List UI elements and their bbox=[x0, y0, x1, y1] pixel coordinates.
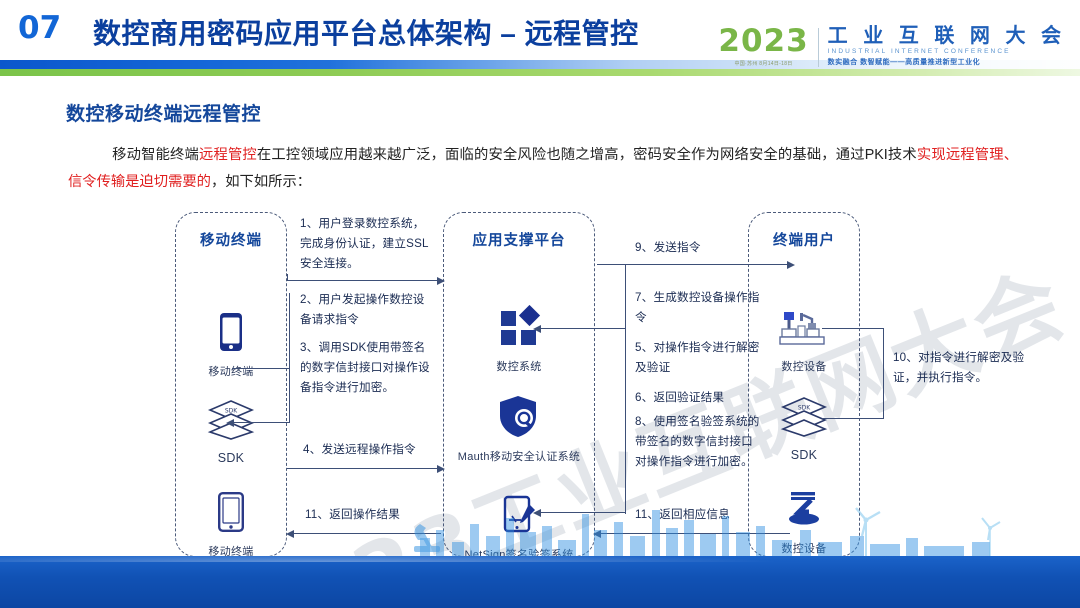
node-sdk-right: SDK SDK bbox=[748, 390, 860, 462]
node-label: 数控系统 bbox=[463, 358, 575, 374]
paragraph-part-1: 移动智能终端 bbox=[112, 147, 199, 163]
node-label: SDK bbox=[748, 448, 860, 462]
message-10: 10、对指令进行解密及验证，并执行指令。 bbox=[893, 348, 1043, 388]
arrow-11b-head bbox=[593, 530, 601, 538]
arrow-11a-line bbox=[293, 533, 441, 534]
node-mobile-terminal-2: 移动终端 bbox=[175, 485, 287, 559]
bracket-8-v bbox=[625, 264, 626, 514]
bracket-8-h bbox=[540, 512, 626, 513]
page-number: 07 bbox=[18, 10, 61, 46]
cnc-system-icon bbox=[463, 300, 575, 354]
message-7: 7、生成数控设备操作指令 bbox=[635, 288, 761, 328]
bracket-7-head bbox=[533, 325, 541, 333]
node-mauth: Mauth移动安全认证系统 bbox=[443, 390, 595, 464]
node-label: 数控设备 bbox=[748, 358, 860, 374]
lane-title-left: 移动终端 bbox=[176, 229, 286, 250]
slide-page: 07 数控商用密码应用平台总体架构 – 远程管控 2023 中国·苏州 8月14… bbox=[0, 0, 1080, 608]
signature-pad-icon bbox=[443, 488, 595, 542]
logo-year: 2023 bbox=[718, 26, 808, 57]
arrow-11a-head bbox=[286, 530, 294, 538]
message-11b: 11、返回相应信息 bbox=[635, 505, 785, 525]
message-2: 2、用户发起操作数控设备请求指令 bbox=[300, 290, 435, 330]
bracket-2-3-head bbox=[226, 419, 234, 427]
arrow-10-h1 bbox=[822, 328, 884, 329]
message-3: 3、调用SDK使用带签名的数字信封接口对操作设备指令进行加密。 bbox=[300, 338, 435, 398]
arrow-1-head bbox=[437, 277, 445, 285]
message-11a: 11、返回操作结果 bbox=[305, 505, 455, 525]
message-8: 8、使用签名验签系统的带签名的数字信封接口对操作指令进行加密。 bbox=[635, 412, 761, 472]
node-label: 移动终端 bbox=[175, 363, 287, 379]
sdk-stack-icon: SDK bbox=[748, 390, 860, 444]
cnc-machine-icon bbox=[748, 300, 860, 354]
paragraph-part-2: 在工控领域应用越来越广泛，面临的安全风险也随之增高，密码安全作为网络安全的基础，… bbox=[257, 147, 917, 163]
lane-title-center: 应用支撑平台 bbox=[444, 229, 594, 250]
message-4: 4、发送远程操作指令 bbox=[303, 440, 453, 460]
arrow-11b-line bbox=[600, 533, 790, 534]
arrow-1-tail bbox=[287, 274, 288, 281]
bracket-7-h bbox=[540, 328, 626, 329]
header-rule-green bbox=[0, 69, 1080, 76]
node-label: Mauth移动安全认证系统 bbox=[443, 448, 595, 464]
logo-conference-en: INDUSTRIAL INTERNET CONFERENCE bbox=[828, 48, 1066, 55]
logo-tagline: 数实融合 数智赋能——高质量推进新型工业化 bbox=[828, 57, 1066, 67]
arrow-9-head bbox=[787, 261, 795, 269]
arrow-10-h2 bbox=[822, 418, 884, 419]
page-title: 数控商用密码应用平台总体架构 – 远程管控 bbox=[93, 12, 639, 52]
section-title: 数控移动终端远程管控 bbox=[66, 99, 261, 126]
message-1: 1、用户登录数控系统，完成身份认证，建立SSL安全连接。 bbox=[300, 214, 435, 274]
paragraph-part-3: ，如下如所示： bbox=[211, 174, 311, 190]
bracket-2-3-h2 bbox=[232, 422, 290, 423]
message-6: 6、返回验证结果 bbox=[635, 388, 761, 408]
node-cnc-device-1: 数控设备 bbox=[748, 300, 860, 374]
bracket-2-3-h1 bbox=[232, 368, 290, 369]
arrow-1-line bbox=[287, 280, 437, 281]
section-paragraph: 移动智能终端远程管控在工控领域应用越来越广泛，面临的安全风险也随之增高，密码安全… bbox=[68, 142, 1018, 196]
paragraph-highlight-1: 远程管控 bbox=[199, 147, 257, 163]
conference-logo: 2023 中国·苏州 8月14日-18日 工 业 互 联 网 大 会 INDUS… bbox=[718, 26, 1066, 67]
shield-search-icon bbox=[443, 390, 595, 444]
tablet-icon bbox=[175, 485, 287, 539]
logo-year-subtitle: 中国·苏州 8月14日-18日 bbox=[734, 60, 792, 67]
logo-text-block: 工 业 互 联 网 大 会 INDUSTRIAL INTERNET CONFER… bbox=[828, 26, 1066, 67]
arrow-4-head bbox=[437, 465, 445, 473]
node-label: SDK bbox=[175, 451, 287, 465]
logo-divider bbox=[818, 28, 819, 67]
smartphone-icon bbox=[175, 305, 287, 359]
message-9: 9、发送指令 bbox=[635, 238, 785, 258]
bottom-wave-decoration bbox=[0, 556, 1080, 608]
slide-header: 07 数控商用密码应用平台总体架构 – 远程管控 2023 中国·苏州 8月14… bbox=[0, 0, 1080, 80]
message-5: 5、对操作指令进行解密及验证 bbox=[635, 338, 761, 378]
bracket-2-3-v bbox=[289, 293, 290, 423]
logo-conference-cn: 工 业 互 联 网 大 会 bbox=[828, 26, 1066, 47]
arrow-10-v bbox=[883, 328, 884, 418]
bracket-8-head bbox=[533, 509, 541, 517]
logo-year-block: 2023 中国·苏州 8月14日-18日 bbox=[718, 26, 808, 67]
arrow-4-line bbox=[287, 468, 437, 469]
node-cnc-system: 数控系统 bbox=[463, 300, 575, 374]
node-sdk-left: SDK SDK bbox=[175, 393, 287, 465]
architecture-diagram: 2023工业互联网大会 移动终端 应用支撑平台 终端用户 移动终端 bbox=[0, 200, 1080, 570]
